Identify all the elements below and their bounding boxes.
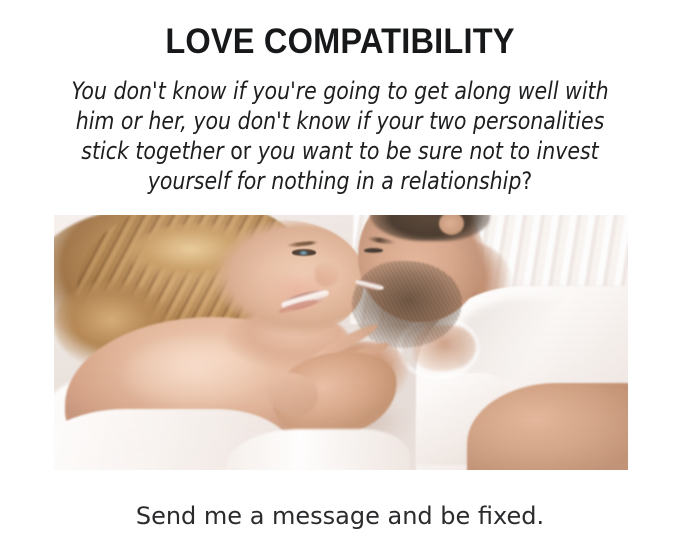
- page-title: LOVE COMPATIBILITY: [24, 22, 656, 62]
- intro-text-question-mark: ?: [521, 167, 532, 195]
- intro-paragraph: You don't know if you're going to get al…: [49, 76, 630, 196]
- caption-text: Send me a message and be fixed.: [0, 502, 680, 530]
- woman-nose: [315, 263, 338, 286]
- couple-photo: [54, 215, 628, 470]
- love-compatibility-page: LOVE COMPATIBILITY You don't know if you…: [0, 0, 680, 544]
- intro-text-or: or: [230, 137, 251, 165]
- couple-photo-canvas: [54, 215, 628, 470]
